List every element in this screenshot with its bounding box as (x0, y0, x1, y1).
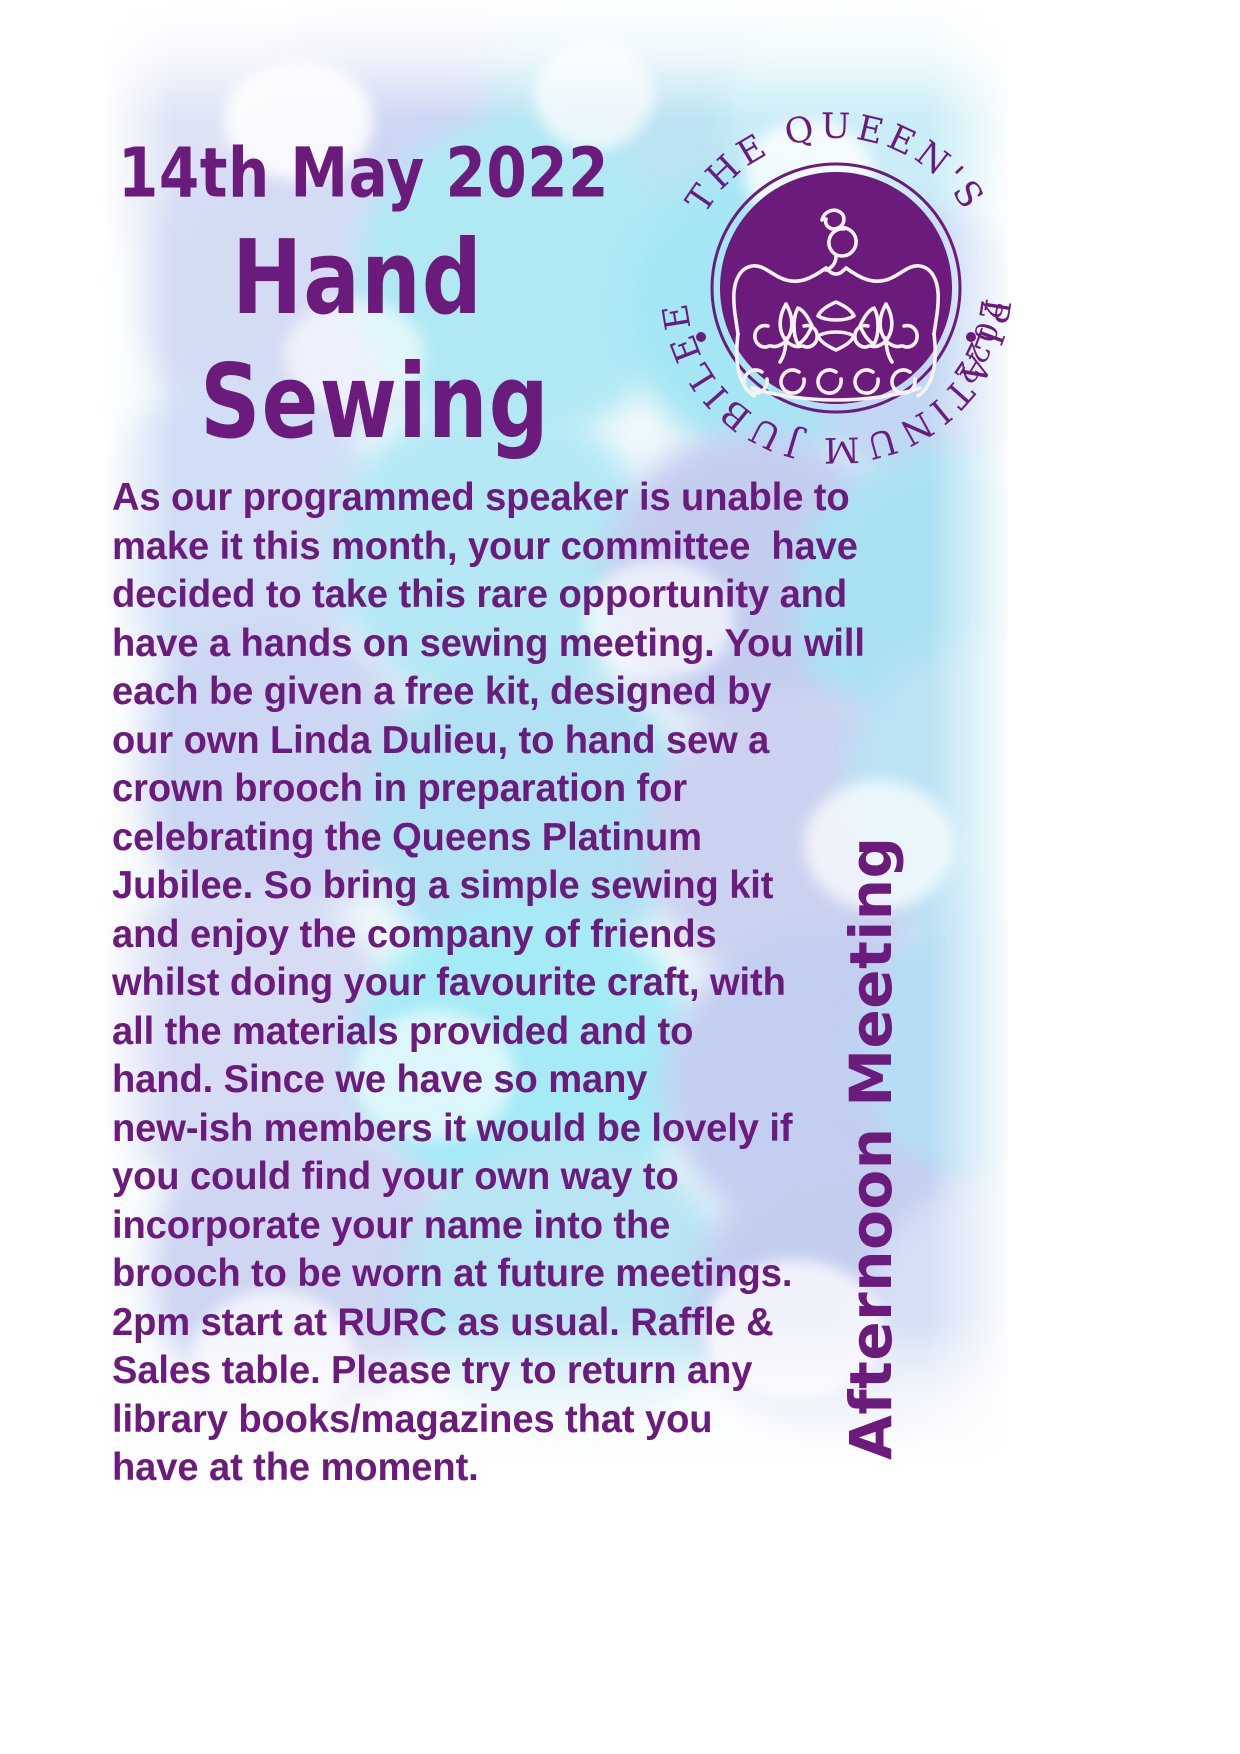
poster-body-text: As our programmed speaker is unable toma… (112, 474, 902, 1493)
afternoon-meeting-label: Afternoon Meeting (837, 836, 905, 1460)
body-line: have a hands on sewing meeting. You will (112, 620, 894, 669)
body-line: library books/magazines that you (112, 1396, 894, 1445)
emblem-separator-dot-left (696, 332, 706, 342)
content-layer: 14th May 2022 Hand Sewing As our program… (0, 0, 1240, 1754)
body-line: make it this month, your committee have (112, 523, 894, 572)
queens-platinum-jubilee-emblem: THE QUEEN'S PLATINUM JUBILEE 2022 (652, 104, 1020, 472)
body-line: new-ish members it would be lovely if (112, 1105, 894, 1154)
body-line: whilst doing your favourite craft, with (112, 959, 894, 1008)
poster-title-line-1: Hand (232, 218, 483, 338)
body-line: crown brooch in preparation for (112, 765, 894, 814)
side-text-container: Afternoon Meeting (905, 700, 1035, 1460)
body-line: As our programmed speaker is unable to (112, 474, 894, 523)
body-line: incorporate your name into the (112, 1202, 894, 1251)
poster-title-line-2: Sewing (200, 342, 550, 462)
poster-date: 14th May 2022 (118, 133, 609, 213)
emblem-separator-dot-right (966, 332, 976, 342)
body-line: you could find your own way to (112, 1153, 894, 1202)
body-line: hand. Since we have so many (112, 1056, 894, 1105)
body-line: our own Linda Dulieu, to hand sew a (112, 717, 894, 766)
body-line: and enjoy the company of friends (112, 911, 894, 960)
body-line: have at the moment. (112, 1444, 894, 1493)
body-line: all the materials provided and to (112, 1008, 894, 1057)
body-line: 2pm start at RURC as usual. Raffle & (112, 1299, 894, 1348)
poster-canvas: 14th May 2022 Hand Sewing As our program… (0, 0, 1240, 1754)
emblem-year: 2022 (945, 298, 1009, 392)
body-line: Sales table. Please try to return any (112, 1347, 894, 1396)
body-line: decided to take this rare opportunity an… (112, 571, 894, 620)
body-line: brooch to be worn at future meetings. (112, 1250, 894, 1299)
body-line: Jubilee. So bring a simple sewing kit (112, 862, 894, 911)
body-line: each be given a free kit, designed by (112, 668, 894, 717)
body-line: celebrating the Queens Platinum (112, 814, 894, 863)
